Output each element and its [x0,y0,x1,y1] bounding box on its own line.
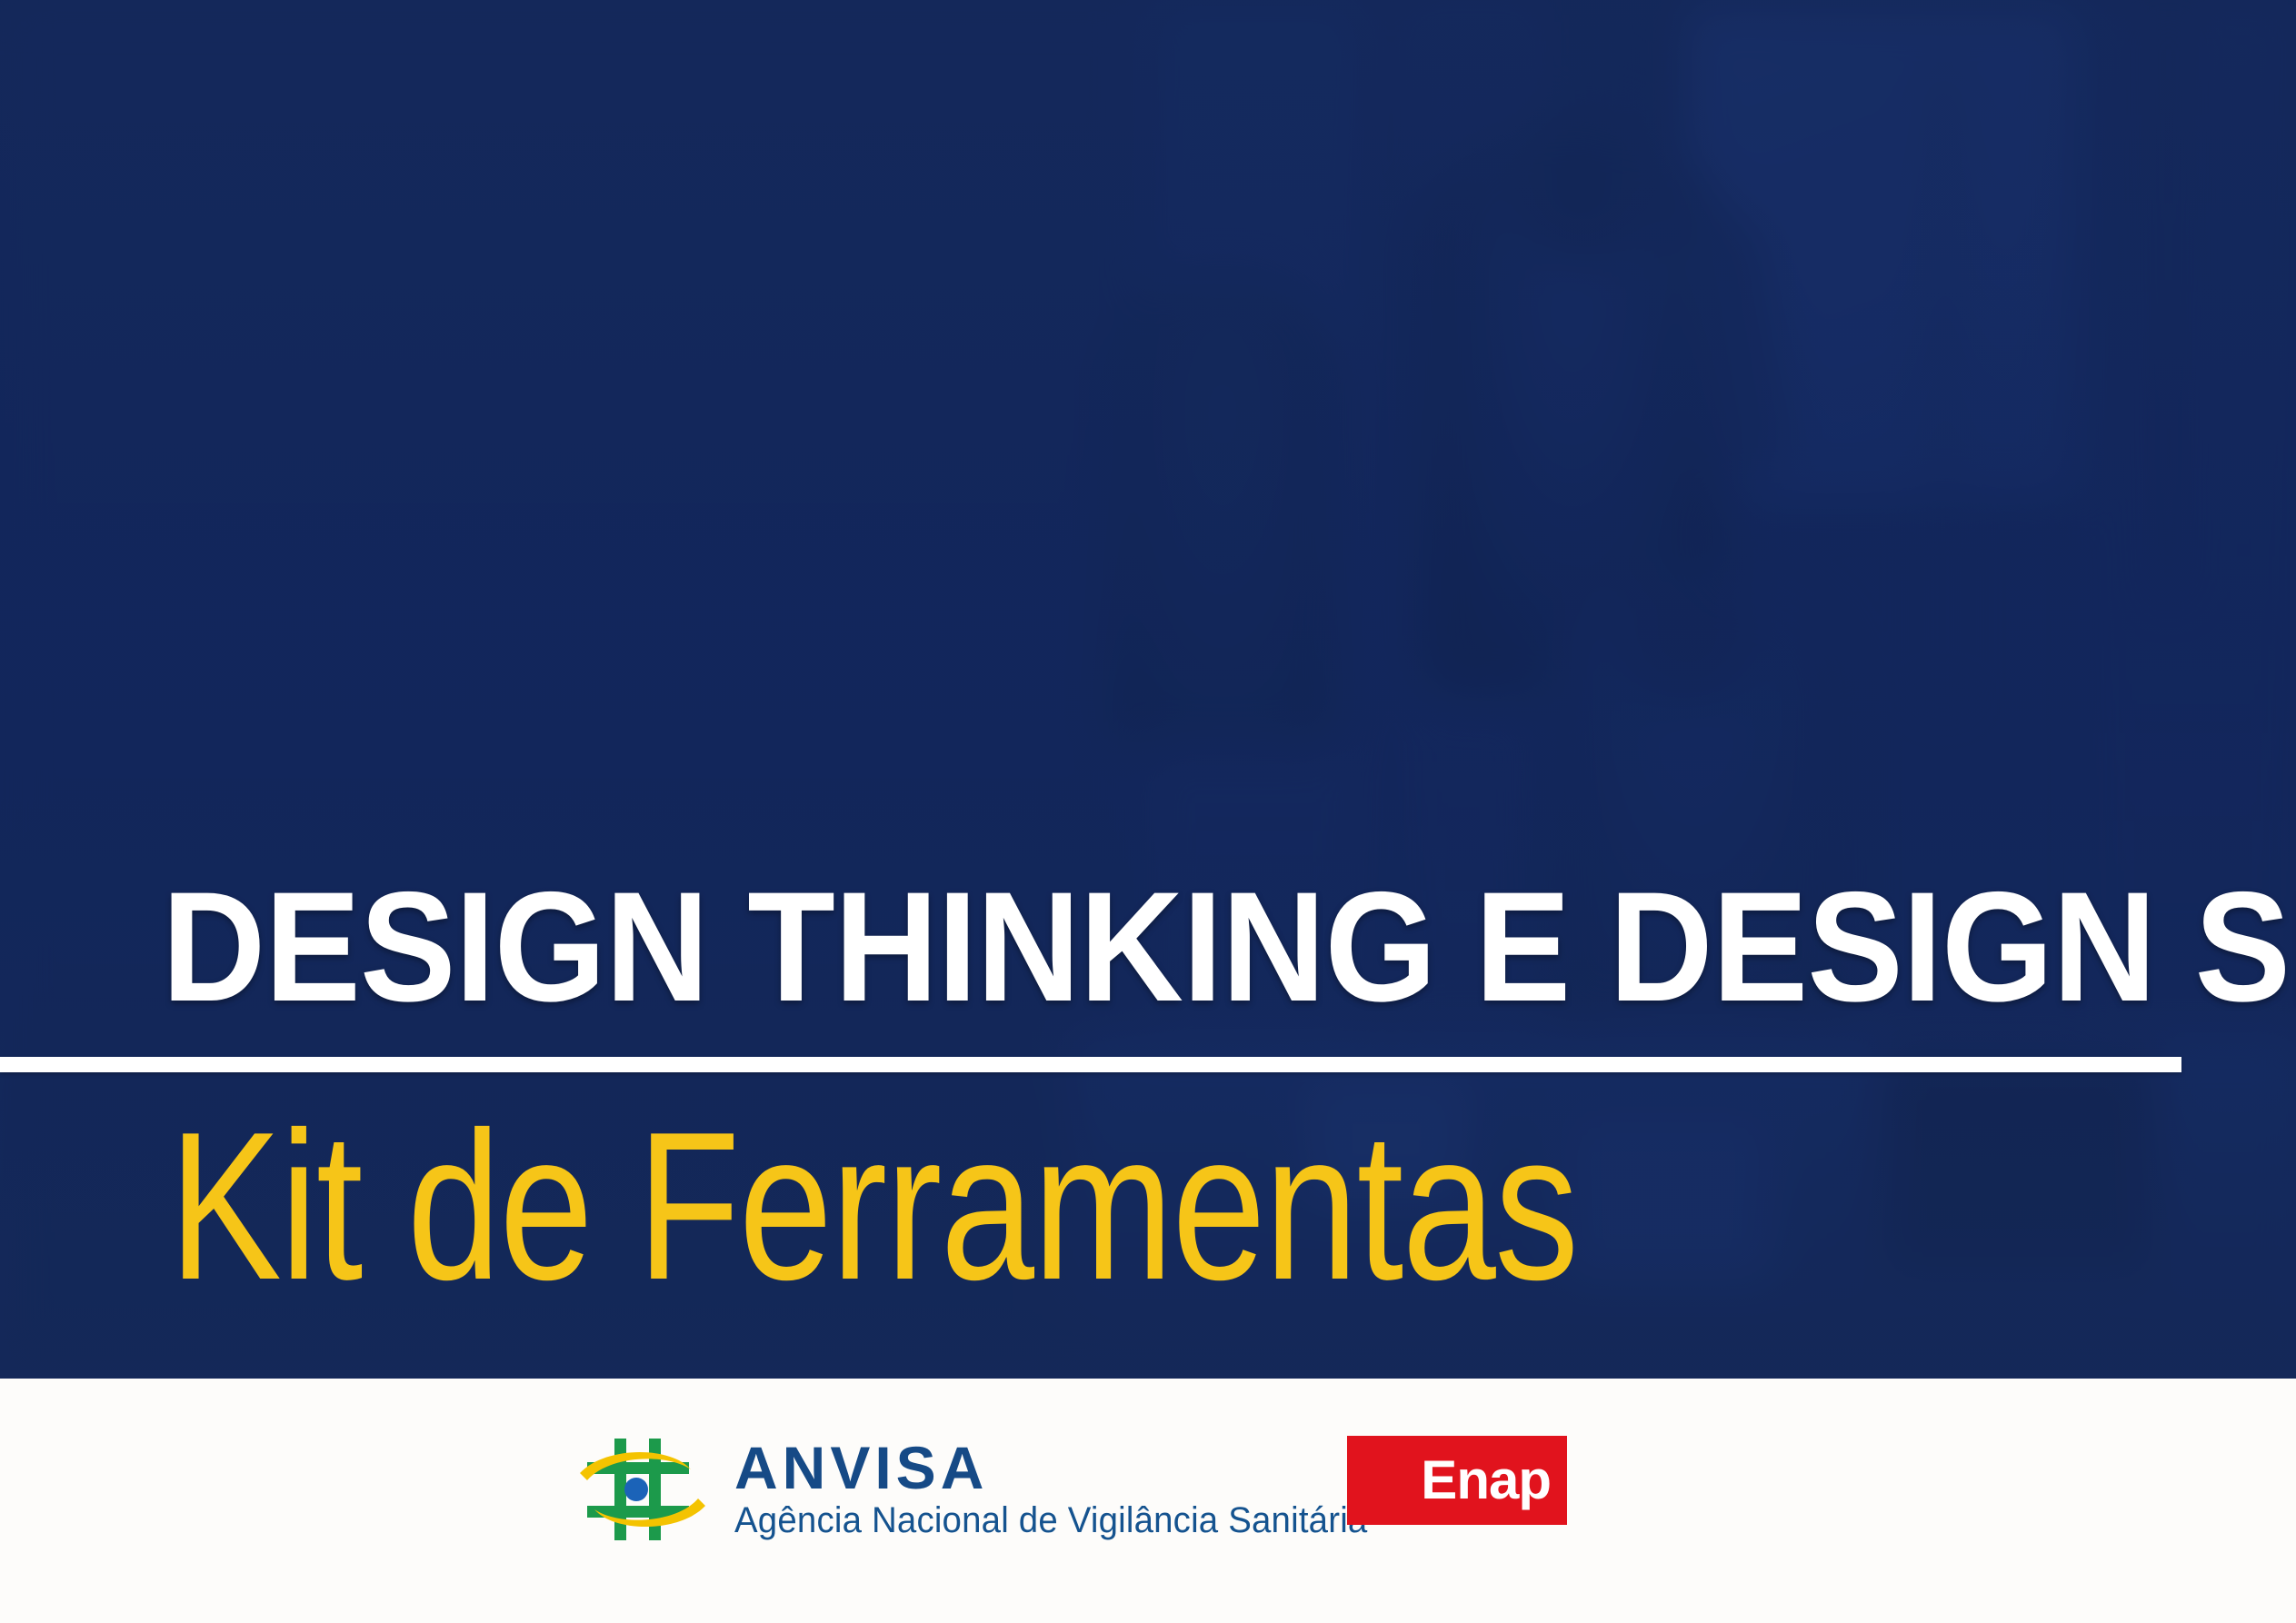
title-divider [0,1057,2181,1072]
anvisa-tagline: Agência Nacional de Vigilância Sanitária [734,1499,1367,1541]
anvisa-eye-cross-icon [574,1431,711,1548]
enap-name: Enap [1421,1453,1551,1508]
anvisa-wordmark: ANVISA Agência Nacional de Vigilância Sa… [734,1438,1394,1540]
footer-bar: ANVISA Agência Nacional de Vigilância Sa… [0,1379,2296,1623]
anvisa-name: ANVISA [734,1438,1394,1499]
slide-root: DESIGN THINKING E DESIGN SPRINT Kit de F… [0,0,2296,1623]
logo-row: ANVISA Agência Nacional de Vigilância Sa… [0,1379,2296,1623]
enap-logo: Enap [1347,1436,1567,1525]
hero-banner: DESIGN THINKING E DESIGN SPRINT Kit de F… [0,0,2296,1379]
page-title: DESIGN THINKING E DESIGN SPRINT [162,869,2035,1025]
anvisa-logo: ANVISA Agência Nacional de Vigilância Sa… [574,1431,1394,1548]
page-subtitle: Kit de Ferramentas [169,1101,1577,1312]
